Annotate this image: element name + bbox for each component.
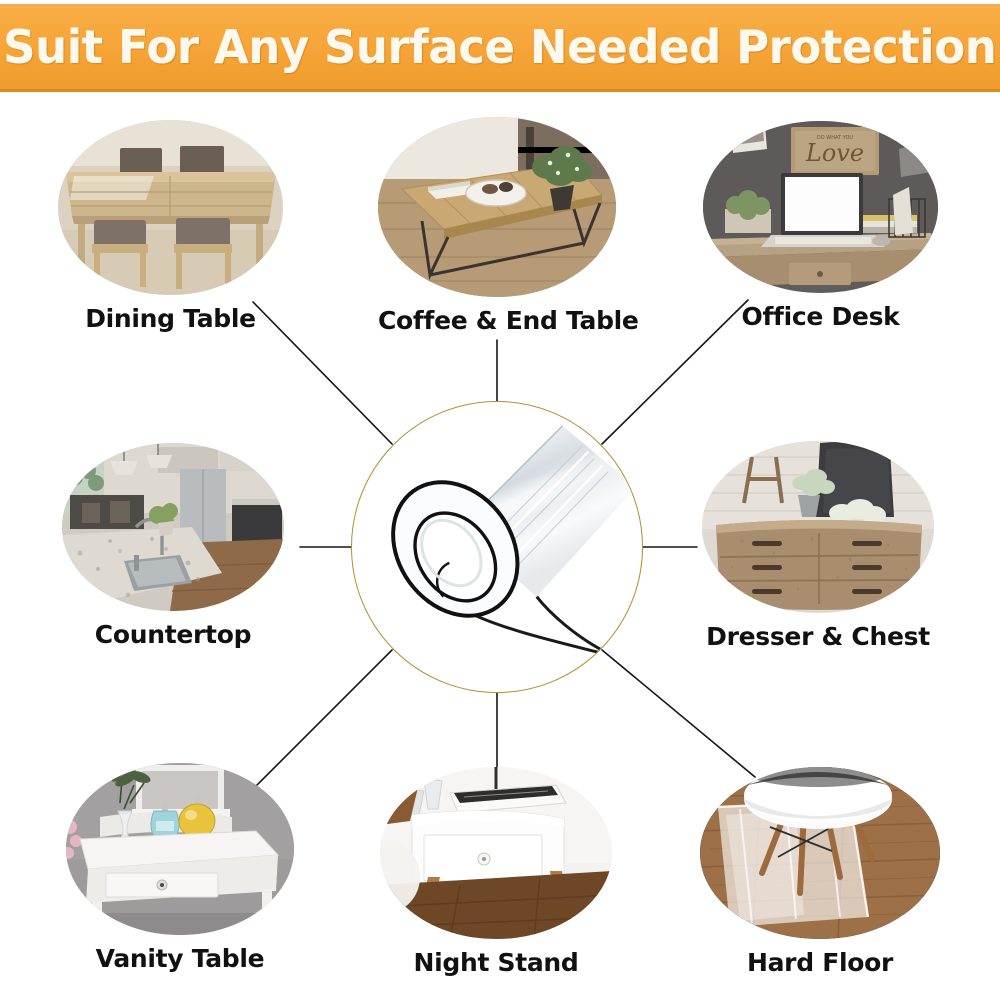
night-stand-scene <box>380 767 612 939</box>
countertop-scene <box>62 443 284 611</box>
hard-floor-image <box>700 767 940 939</box>
coffee-end-table-scene <box>378 117 616 297</box>
node-night-stand[interactable]: Night Stand <box>380 767 612 977</box>
node-label-countertop: Countertop <box>62 620 284 649</box>
page-title: Suit For Any Surface Needed Protection <box>3 20 996 74</box>
dresser-chest-scene <box>702 441 934 613</box>
countertop-image <box>62 443 284 611</box>
coffee-end-table-image <box>378 117 616 297</box>
vanity-table-image <box>66 763 294 935</box>
office-desk-scene: Love DO WHAT YOU <box>703 121 938 293</box>
dining-table-scene <box>58 120 283 295</box>
node-dining-table[interactable]: Dining Table <box>58 120 283 333</box>
node-vanity-table[interactable]: Vanity Table <box>66 763 294 973</box>
node-coffee-end-table[interactable]: Coffee & End Table <box>378 117 639 335</box>
svg-text:DO WHAT YOU: DO WHAT YOU <box>817 135 853 141</box>
dresser-chest-image <box>702 441 934 613</box>
node-label-office-desk: Office Desk <box>703 302 938 331</box>
node-label-dresser-chest: Dresser & Chest <box>702 622 934 651</box>
vanity-table-scene <box>66 763 294 935</box>
node-countertop[interactable]: Countertop <box>62 443 284 649</box>
surface-diagram: Dining Table <box>0 95 1000 1000</box>
node-label-hard-floor: Hard Floor <box>700 948 940 977</box>
dining-table-image <box>58 120 283 295</box>
node-dresser-chest[interactable]: Dresser & Chest <box>702 441 934 651</box>
node-label-night-stand: Night Stand <box>380 948 612 977</box>
clear-pvc-roll-icon <box>352 402 642 692</box>
node-label-coffee-end-table: Coffee & End Table <box>378 306 639 335</box>
node-hard-floor[interactable]: Hard Floor <box>700 767 940 977</box>
center-product-circle <box>351 401 643 693</box>
svg-text:Love: Love <box>805 139 864 167</box>
node-office-desk[interactable]: Love DO WHAT YOU <box>703 121 938 331</box>
office-desk-image: Love DO WHAT YOU <box>703 121 938 293</box>
night-stand-image <box>380 767 612 939</box>
node-label-dining-table: Dining Table <box>58 304 283 333</box>
header-banner: Suit For Any Surface Needed Protection <box>0 4 1000 92</box>
node-label-vanity-table: Vanity Table <box>66 944 294 973</box>
hard-floor-scene <box>700 767 940 939</box>
